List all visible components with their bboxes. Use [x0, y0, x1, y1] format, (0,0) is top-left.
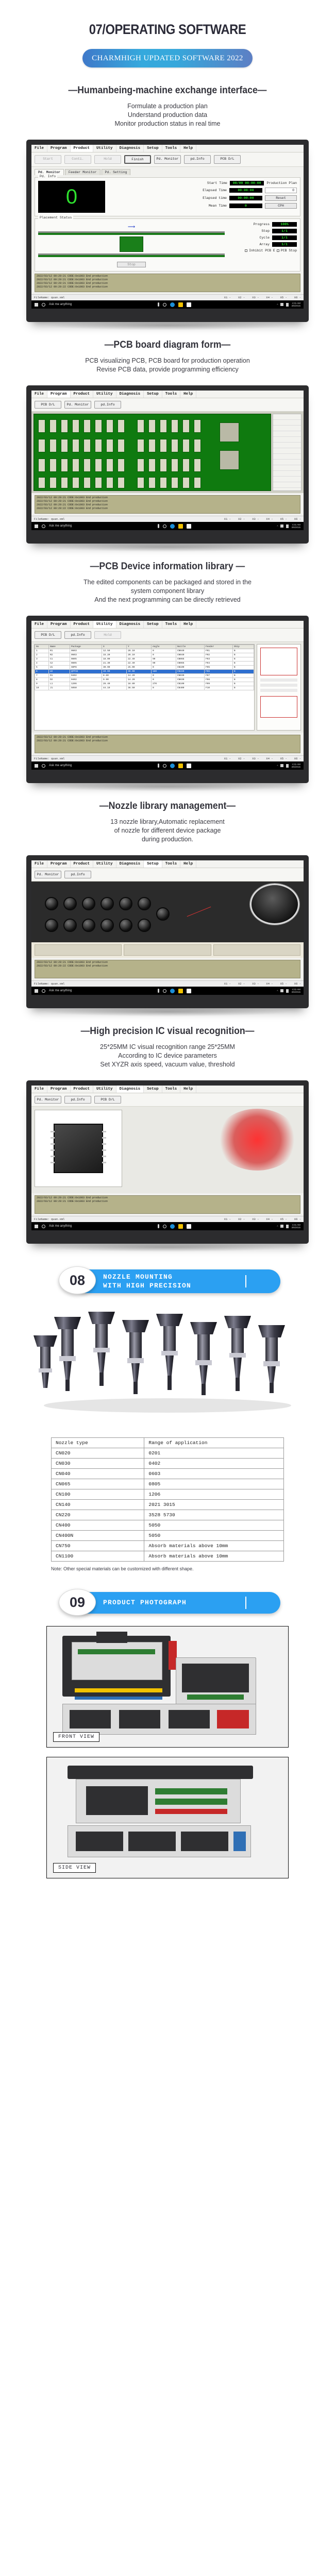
app-window-pcb-diagram: File Program Product Utility Diagnosis S…	[31, 391, 304, 530]
microphone-icon[interactable]	[158, 989, 159, 993]
cell: F01	[204, 649, 232, 653]
table-row[interactable]: 2R2060315.2020.100CN040F02N	[35, 653, 254, 657]
file-explorer-icon[interactable]	[178, 989, 183, 993]
store-icon[interactable]	[187, 764, 191, 768]
menu-utility[interactable]: Utility	[93, 145, 116, 152]
pcb-dl-button[interactable]: PCB D/L	[35, 631, 61, 639]
cell: F04	[204, 662, 232, 666]
menu-tools[interactable]: Tools	[162, 621, 181, 628]
network-icon[interactable]	[280, 524, 283, 528]
edge-browser-icon[interactable]	[170, 764, 175, 768]
sub-line: Set XYZR axis speed, vacuum value, thres…	[0, 1060, 335, 1069]
menu-product[interactable]: Product	[71, 860, 94, 868]
nozzle-type: CN100	[52, 1489, 144, 1500]
app-circle-icon[interactable]	[163, 1225, 166, 1228]
menu-tools[interactable]: Tools	[162, 391, 181, 398]
app-window-nozzle-library: File Program Product Utility Diagnosis S…	[31, 860, 304, 995]
edge-browser-icon[interactable]	[170, 1224, 175, 1229]
production-plan-label: Production Plan	[266, 181, 297, 185]
menu-file[interactable]: File	[31, 1086, 47, 1093]
product-photo-front: FRONT VIEW	[46, 1626, 289, 1748]
table-row: CN220 3528 5730	[52, 1510, 284, 1520]
pd-monitor-button[interactable]: Pd. Monitor	[35, 1096, 61, 1104]
windows-taskbar-5[interactable]: Ask me anything ^ 4:31 AM 3/6/2015	[31, 1222, 304, 1230]
pd-monitor-button[interactable]: Pd. Monitor	[64, 401, 91, 409]
network-icon[interactable]	[280, 1225, 283, 1228]
windows-start-icon[interactable]	[35, 303, 38, 307]
menu-diagnosis[interactable]: Diagnosis	[116, 621, 144, 628]
software-version-pill: CHARMHIGH UPDATED SOFTWARE 2022	[82, 49, 253, 67]
menu-setup[interactable]: Setup	[144, 1086, 162, 1093]
col-header: X	[102, 645, 126, 649]
edge-browser-icon[interactable]	[170, 989, 175, 993]
cortana-icon[interactable]	[42, 764, 45, 768]
menu-tools[interactable]: Tools	[162, 1086, 181, 1093]
windows-start-icon[interactable]	[35, 1225, 38, 1228]
badge-08-divider	[245, 1275, 246, 1287]
cell: N	[232, 670, 254, 674]
store-icon[interactable]	[187, 1224, 191, 1229]
nozzle-range: 5050	[144, 1520, 284, 1531]
app-statusbar-4: FileName: quan.xml X1 - X2 - X3 - X4 - X…	[31, 980, 304, 987]
cell: CN400	[176, 686, 204, 690]
app-toolbar-5: Pd. Monitor pd.Info PCB D/L	[31, 1093, 304, 1107]
app-menubar-4[interactable]: File Program Product Utility Diagnosis S…	[31, 860, 304, 868]
chevron-up-icon[interactable]: ^	[277, 765, 278, 767]
status-cell: X6 -	[294, 1217, 301, 1221]
table-row[interactable]: 1R1060312.5020.100CN040F01N	[35, 649, 254, 653]
app-circle-icon[interactable]	[163, 524, 166, 528]
table-row[interactable]: 4C2080521.3022.4090CN065F04N	[35, 662, 254, 666]
menu-setup[interactable]: Setup	[144, 145, 162, 152]
cell: 3	[35, 657, 49, 662]
pcb-canvas[interactable]	[33, 414, 271, 491]
log-line: 2022/03/12 09:29:21 CODE:0x1003 End prod…	[37, 503, 298, 507]
table-row: CN030 0402	[52, 1459, 284, 1469]
stop-select[interactable]: Stop	[117, 262, 146, 267]
section-sub-device-library: The edited components can be packaged an…	[0, 578, 335, 604]
file-explorer-icon[interactable]	[178, 764, 183, 768]
pd-info-button[interactable]: pd.Info	[64, 1096, 91, 1104]
status-cell: X1 -	[224, 982, 231, 986]
menu-program[interactable]: Program	[47, 1086, 71, 1093]
app-statusbar-2: FileName: quan.xml X1 - X2 - X3 - X4 - X…	[31, 516, 304, 522]
log-line: 2022/03/12 09:29:21 CODE:0x1003 End prod…	[37, 278, 298, 282]
nozzle-type: CN220	[52, 1510, 144, 1520]
menu-help[interactable]: Help	[180, 391, 196, 398]
menu-product[interactable]: Product	[71, 145, 94, 152]
menu-help[interactable]: Help	[180, 145, 196, 152]
table-row-selected[interactable]: 6U2QFP3240.0030.00180CN220F06N	[35, 670, 254, 674]
sub-line: 13 nozzle library,Automatic replacement	[0, 818, 335, 826]
app-toolbar-4: Pd. Monitor pd.Info	[31, 868, 304, 882]
photo-label-side: SIDE VIEW	[53, 1863, 96, 1873]
network-icon[interactable]	[280, 764, 283, 767]
table-row[interactable]: 5U1SOP830.0025.000CN100F05N	[35, 666, 254, 670]
status-filename: FileName: quan.xml	[34, 1217, 64, 1221]
tab-feeder-monitor[interactable]: Feeder Monitor	[65, 169, 100, 175]
taskbar-date: 3/6/2015	[291, 526, 300, 529]
status-axis-cells: X1 - X2 - X3 - X4 - X5 - X6 -	[224, 296, 301, 299]
nozzle-spec-table: Nozzle type Range of application CN020 0…	[51, 1437, 284, 1562]
menu-utility[interactable]: Utility	[93, 621, 116, 628]
monitor-screenshot-pcb-diagram: File Program Product Utility Diagnosis S…	[26, 385, 309, 544]
app-window-production-monitor: File Program Product Utility Diagnosis S…	[31, 145, 304, 309]
badge-09-pill: PRODUCT PHOTOGRAPH	[74, 1592, 280, 1614]
chevron-up-icon[interactable]: ^	[277, 303, 278, 306]
file-explorer-icon[interactable]	[178, 524, 183, 529]
cortana-icon[interactable]	[42, 1225, 45, 1228]
status-filename: FileName: quan.xml	[34, 757, 64, 760]
cell: 8.60	[102, 674, 126, 678]
table-row[interactable]: 10J1505044.1036.500CN400F10N	[35, 686, 254, 690]
app-circle-icon[interactable]	[163, 303, 166, 307]
finish-button[interactable]: Finish	[124, 155, 151, 164]
section-heading-device-library: —PCB Device information library —	[12, 561, 324, 572]
network-icon[interactable]	[280, 989, 283, 992]
elapsed-time2-value: 00:00:00	[229, 196, 262, 200]
table-row: CN065 0805	[52, 1479, 284, 1489]
cell: 90	[151, 657, 176, 662]
windows-start-icon[interactable]	[35, 764, 38, 768]
nozzle-type: CN400N	[52, 1531, 144, 1541]
menu-utility[interactable]: Utility	[93, 391, 116, 398]
microphone-icon[interactable]	[158, 524, 159, 528]
cell: 0	[151, 678, 176, 682]
log-line: 2022/03/12 09:29:21 CODE:0x1003 End prod…	[37, 961, 298, 964]
table-row[interactable]: 7D104028.6014.200CN030F07N	[35, 674, 254, 678]
file-explorer-icon[interactable]	[178, 302, 183, 307]
sub-line: PCB visualizing PCB, PCB board for produ…	[0, 357, 335, 365]
status-cell: X5 -	[280, 982, 287, 986]
status-cell: X3 -	[252, 982, 259, 986]
cell: 2	[35, 653, 49, 657]
cell: N	[232, 666, 254, 670]
cell: 21.30	[102, 662, 126, 666]
app-circle-icon[interactable]	[163, 989, 166, 993]
battery-icon[interactable]	[286, 524, 289, 528]
production-log-5[interactable]: 2022/03/12 09:29:21 CODE:0x1003 End prod…	[35, 1195, 300, 1214]
col-header: Feeder	[204, 645, 232, 649]
cell: F07	[204, 674, 232, 678]
cell: 9	[35, 682, 49, 686]
elapsed-time2-label: Elapsed time	[203, 196, 227, 200]
continue-button[interactable]: Conti.	[64, 155, 91, 164]
cell: 0603	[70, 649, 102, 653]
app-circle-icon[interactable]	[163, 764, 166, 768]
sub-line: system component library	[0, 587, 335, 596]
pd-monitor-button[interactable]: Pd. Monitor	[35, 871, 61, 878]
microphone-icon[interactable]	[158, 1224, 159, 1228]
microphone-icon[interactable]	[158, 302, 159, 307]
nozzle-table-note: Note: Other special materials can be cus…	[51, 1566, 284, 1571]
hold-button[interactable]: Hold	[94, 155, 121, 164]
edge-browser-icon[interactable]	[170, 524, 175, 529]
sub-line: Understand production data	[0, 111, 335, 120]
chevron-up-icon[interactable]: ^	[277, 525, 278, 528]
hold-button[interactable]: Hold	[94, 631, 121, 639]
nozzle-type: CN400	[52, 1520, 144, 1531]
log-line: 2022/03/12 09:29:21 CODE:0x1003 End prod…	[37, 500, 298, 503]
windows-taskbar-4[interactable]: Ask me anything ^ 4:31 AM 3/6/2015	[31, 987, 304, 995]
tab-pd-setting[interactable]: Pd. Setting	[102, 169, 131, 175]
cell: 14.20	[126, 674, 151, 678]
progress-label: Progress	[254, 223, 270, 226]
menu-program[interactable]: Program	[47, 860, 71, 868]
status-cell: X3 -	[252, 1217, 259, 1221]
reset-button[interactable]: Reset	[265, 195, 297, 201]
cell: 0	[151, 649, 176, 653]
log-line: 2022/03/12 09:29:22 CODE:0x1003 End prod…	[37, 507, 298, 511]
section-heading-hmi: —Humanbeing-machine exchange interface—	[12, 85, 324, 96]
cph-button[interactable]: CPH	[265, 203, 297, 209]
cell: CN040	[176, 649, 204, 653]
nozzle-type: CN750	[52, 1541, 144, 1551]
page-root: 07/OPERATING SOFTWARE CHARMHIGH UPDATED …	[0, 0, 335, 1899]
windows-start-icon[interactable]	[35, 524, 38, 528]
menu-tools[interactable]: Tools	[162, 145, 181, 152]
cell: QFP32	[70, 670, 102, 674]
nozzle-range: 0201	[144, 1448, 284, 1459]
table-row[interactable]: 3C1080518.0022.4090CN065F03N	[35, 657, 254, 662]
menu-file[interactable]: File	[31, 145, 47, 152]
status-cell: X3 -	[252, 517, 259, 521]
app-menubar[interactable]: File Program Product Utility Diagnosis S…	[31, 145, 304, 152]
menu-diagnosis[interactable]: Diagnosis	[116, 391, 144, 398]
cell: L1	[48, 682, 70, 686]
menu-file[interactable]: File	[31, 391, 47, 398]
pd-info-button[interactable]: pd.Info	[64, 631, 91, 639]
menu-file[interactable]: File	[31, 860, 47, 868]
status-cell: X6 -	[294, 296, 301, 299]
section-heading-pcb-diagram: —PCB board diagram form—	[12, 340, 324, 351]
menu-product[interactable]: Product	[71, 391, 94, 398]
status-filename: FileName: quan.xml	[34, 982, 64, 986]
cell: D1	[48, 674, 70, 678]
cell: 0402	[70, 678, 102, 682]
component-library-table[interactable]: No Name Package X Y Angle Nozzle Feeder …	[34, 644, 255, 731]
nozzle-product-photo	[23, 1304, 312, 1428]
cell: 25.00	[126, 666, 151, 670]
windows-start-icon[interactable]	[35, 989, 38, 993]
menu-tools[interactable]: Tools	[162, 860, 181, 868]
taskbar-date: 3/6/2015	[291, 991, 300, 993]
menu-diagnosis[interactable]: Diagnosis	[116, 1086, 144, 1093]
status-cell: X2 -	[238, 982, 245, 986]
taskbar-search-placeholder[interactable]: Ask me anything	[49, 764, 72, 767]
status-cell: X5 -	[280, 757, 287, 760]
cell: 0603	[70, 653, 102, 657]
status-cell: X2 -	[238, 757, 245, 760]
start-button[interactable]: Start	[35, 155, 61, 164]
store-icon[interactable]	[187, 989, 191, 993]
section-sub-nozzle-library: 13 nozzle library,Automatic replacement …	[0, 818, 335, 844]
app-menubar-5[interactable]: File Program Product Utility Diagnosis S…	[31, 1086, 304, 1093]
col-header: Y	[126, 645, 151, 649]
cell: 270	[151, 682, 176, 686]
app-statusbar-3: FileName: quan.xml X1 - X2 - X3 - X4 - X…	[31, 755, 304, 761]
menu-program[interactable]: Program	[47, 621, 71, 628]
file-explorer-icon[interactable]	[178, 1224, 183, 1229]
cell: 0	[151, 666, 176, 670]
menu-file[interactable]: File	[31, 621, 47, 628]
pd-info-button[interactable]: pd.Info	[94, 401, 121, 409]
component-preview-pane[interactable]	[257, 644, 301, 731]
app-toolbar-2: PCB D/L Pd. Monitor pd.Info	[31, 398, 304, 412]
battery-icon[interactable]	[286, 989, 289, 993]
cell: 20.10	[126, 649, 151, 653]
cell: 30.00	[102, 666, 126, 670]
status-cell: X5 -	[280, 1217, 287, 1221]
cell: F05	[204, 666, 232, 670]
menu-setup[interactable]: Setup	[144, 391, 162, 398]
taskbar-search-placeholder[interactable]: Ask me anything	[49, 989, 72, 992]
cell: 1	[35, 649, 49, 653]
status-cell: X6 -	[294, 982, 301, 986]
chevron-up-icon[interactable]: ^	[277, 990, 278, 992]
status-cell: X4 -	[266, 296, 273, 299]
chevron-up-icon[interactable]: ^	[277, 1225, 278, 1228]
menu-setup[interactable]: Setup	[144, 860, 162, 868]
windows-taskbar-3[interactable]: Ask me anything ^ 4:31 AM 3/6/2015	[31, 761, 304, 770]
menu-utility[interactable]: Utility	[93, 1086, 116, 1093]
app-menubar-3[interactable]: File Program Product Utility Diagnosis S…	[31, 621, 304, 629]
pd-info-title: Pd. Info	[38, 175, 57, 178]
photo-label-front: FRONT VIEW	[53, 1732, 99, 1742]
menu-product[interactable]: Product	[71, 621, 94, 628]
table-row[interactable]: 9L1120626.4018.80270CN100F09N	[35, 682, 254, 686]
nozzle-head-illustration	[31, 882, 304, 942]
pcb-dl-button[interactable]: PCB D/L	[35, 401, 61, 409]
edge-browser-icon[interactable]	[170, 302, 175, 307]
log-line: 2022/03/12 09:29:21 CODE:0x1003 End prod…	[37, 736, 298, 739]
log-line: 2022/03/12 09:29:21 CODE:0x1003 End prod…	[37, 739, 298, 743]
cortana-icon[interactable]	[42, 303, 45, 307]
table-row: CN020 0201	[52, 1448, 284, 1459]
menu-help[interactable]: Help	[180, 621, 196, 628]
menu-help[interactable]: Help	[180, 1086, 196, 1093]
log-line: 2022/03/12 09:29:21 CODE:0x1003 End prod…	[37, 282, 298, 285]
cell: 0	[151, 674, 176, 678]
cortana-icon[interactable]	[42, 524, 45, 528]
nozzle-zoom-callout	[250, 884, 299, 925]
inhibit-pcb-label: Inhibit PCB E	[249, 249, 275, 252]
windows-taskbar-2[interactable]: Ask me anything ^ 4:31 AM 3/6/2015	[31, 522, 304, 530]
status-cell: X4 -	[266, 757, 273, 760]
taskbar-search-placeholder[interactable]: Ask me anything	[49, 524, 72, 528]
store-icon[interactable]	[187, 302, 191, 307]
status-cell: X6 -	[294, 517, 301, 521]
cell: N	[232, 682, 254, 686]
conveyor-bottom	[38, 253, 225, 257]
table-row: CN040 0603	[52, 1469, 284, 1479]
badge-09-number: 09	[59, 1589, 96, 1616]
cell: 20.10	[126, 653, 151, 657]
status-cell: X2 -	[238, 296, 245, 299]
cell: 18.00	[102, 657, 126, 662]
production-log-2[interactable]: 2022/03/12 09:29:21 CODE:0x1003 End prod…	[35, 495, 300, 514]
status-cell: X4 -	[266, 1217, 273, 1221]
cell: U2	[48, 670, 70, 674]
cycle-label: Cycle	[259, 236, 270, 240]
step-value: 1/1	[272, 229, 297, 233]
badge-08-line2: WITH HIGH PRECISION	[103, 1281, 191, 1290]
production-log[interactable]: 2022/03/12 09:29:21 CODE:0x1003 End prod…	[35, 274, 300, 292]
elapsed-time-label: Elapsed Time	[203, 189, 227, 192]
sub-line: Revise PCB data, provide programming eff…	[0, 365, 335, 374]
conveyor-direction-arrow-icon: ⟶	[38, 224, 225, 230]
cortana-icon[interactable]	[42, 989, 45, 993]
table-row[interactable]: 8D204029.9014.200CN030F08N	[35, 678, 254, 682]
menu-diagnosis[interactable]: Diagnosis	[116, 860, 144, 868]
taskbar-search-placeholder[interactable]: Ask me anything	[49, 1225, 72, 1228]
battery-icon[interactable]	[286, 764, 289, 768]
cell: 1206	[70, 682, 102, 686]
section-badge-09: PRODUCT PHOTOGRAPH 09	[46, 1589, 289, 1617]
inhibit-pcb-checkbox[interactable]	[245, 249, 247, 252]
cell: CN100	[176, 666, 204, 670]
network-icon[interactable]	[280, 303, 283, 306]
status-cell: X2 -	[238, 517, 245, 521]
pcb-stop-checkbox[interactable]	[277, 249, 279, 252]
laser-vision-glow	[216, 1109, 298, 1171]
sub-line: According to IC device parameters	[0, 1052, 335, 1060]
start-time-label: Start Time	[207, 181, 227, 185]
col-header: Nozzle	[176, 645, 204, 649]
app-menubar-2[interactable]: File Program Product Utility Diagnosis S…	[31, 391, 304, 398]
production-log-3[interactable]: 2022/03/12 09:29:21 CODE:0x1003 End prod…	[35, 735, 300, 753]
badge-08-number: 08	[59, 1266, 96, 1294]
production-plan-input[interactable]: 0	[265, 188, 297, 193]
pcb-dl-button[interactable]: PCB D/L	[94, 1096, 121, 1104]
table-row: CN400 5050	[52, 1520, 284, 1531]
store-icon[interactable]	[187, 524, 191, 529]
menu-utility[interactable]: Utility	[93, 860, 116, 868]
cell: F10	[204, 686, 232, 690]
microphone-icon[interactable]	[158, 764, 159, 768]
taskbar-date: 3/6/2015	[291, 304, 300, 307]
progress-value: 100%	[272, 222, 297, 227]
taskbar-search-placeholder[interactable]: Ask me anything	[49, 303, 72, 306]
menu-help[interactable]: Help	[180, 860, 196, 868]
cell: 0	[151, 653, 176, 657]
production-log-4[interactable]: 2022/03/12 09:29:21 CODE:0x1003 End prod…	[35, 960, 300, 978]
menu-setup[interactable]: Setup	[144, 621, 162, 628]
cell: 30.00	[126, 670, 151, 674]
pcb-dl-button[interactable]: PCB D/L	[214, 155, 241, 164]
battery-icon[interactable]	[286, 303, 289, 307]
pd-info-button[interactable]: pd.Info	[184, 155, 211, 164]
cell: J1	[48, 686, 70, 690]
status-cell: X4 -	[266, 517, 273, 521]
menu-program[interactable]: Program	[47, 145, 71, 152]
cell: 44.10	[102, 686, 126, 690]
pd-info-button[interactable]: pd.Info	[64, 871, 91, 878]
ic-vision-preview[interactable]	[35, 1110, 122, 1187]
menu-product[interactable]: Product	[71, 1086, 94, 1093]
windows-taskbar[interactable]: Ask me anything ^ 4:31 AM 3/6/2015	[31, 300, 304, 309]
sub-line: 25*25MM IC visual recognition range 25*2…	[0, 1043, 335, 1052]
battery-icon[interactable]	[286, 1225, 289, 1228]
menu-program[interactable]: Program	[47, 391, 71, 398]
pd-monitor-button[interactable]: Pd. Monitor	[154, 155, 181, 164]
cell: 40.00	[102, 670, 126, 674]
cell: U1	[48, 666, 70, 670]
cell: N	[232, 678, 254, 682]
menu-diagnosis[interactable]: Diagnosis	[116, 145, 144, 152]
table-row: CN1100 Absorb materials above 10mm	[52, 1551, 284, 1562]
pcb-properties-pane[interactable]	[273, 414, 301, 491]
